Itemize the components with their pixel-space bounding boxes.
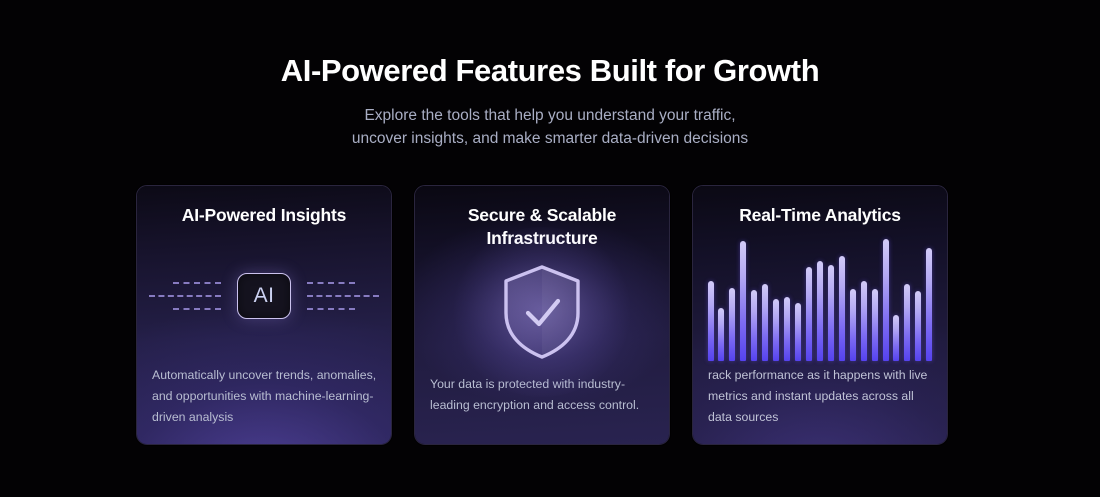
card-description-secure: Your data is protected with industry- le… — [415, 374, 669, 444]
subtitle-line-2: uncover insights, and make smarter data-… — [0, 128, 1100, 150]
dashed-line — [173, 308, 221, 310]
chart-bar — [893, 315, 899, 361]
chart-bar — [817, 261, 823, 361]
dashed-line — [173, 282, 221, 284]
card-title-secure: Secure & Scalable Infrastructure — [415, 186, 669, 250]
chart-bar — [729, 288, 735, 361]
description-line: rack performance as it happens with live — [708, 365, 932, 386]
dashed-line — [307, 295, 379, 297]
features-section: AI-Powered Features Built for Growth Exp… — [0, 0, 1100, 497]
description-line: leading encryption and access control. — [430, 395, 654, 416]
dashed-line — [149, 295, 221, 297]
chart-bar — [904, 284, 910, 361]
chart-bar — [850, 289, 856, 361]
bar-chart-icon — [708, 239, 933, 361]
section-header: AI-Powered Features Built for Growth Exp… — [0, 0, 1100, 150]
chart-bar — [795, 303, 801, 361]
card-title-line: Secure & Scalable — [468, 205, 616, 225]
chart-bar — [828, 265, 834, 361]
ai-chip-lines-right — [307, 282, 379, 310]
chart-bar — [883, 239, 889, 361]
chart-bar — [872, 289, 878, 361]
chart-bar — [784, 297, 790, 361]
page-title: AI-Powered Features Built for Growth — [0, 54, 1100, 88]
card-visual-analytics — [693, 227, 947, 364]
description-line: driven analysis — [152, 407, 376, 428]
card-title-insights: AI-Powered Insights — [137, 186, 391, 227]
chart-bar — [915, 291, 921, 360]
description-line: data sources — [708, 407, 932, 428]
card-title-analytics: Real-Time Analytics — [693, 186, 947, 227]
subtitle-line-1: Explore the tools that help you understa… — [0, 105, 1100, 127]
dashed-line — [307, 308, 355, 310]
card-description-analytics: rack performance as it happens with live… — [693, 365, 947, 444]
feature-card-real-time-analytics[interactable]: Real-Time Analytics rack performance as … — [692, 185, 948, 445]
chart-bar — [762, 284, 768, 361]
chart-bar — [861, 281, 867, 361]
card-visual-insights: AI — [137, 227, 391, 364]
section-subtitle: Explore the tools that help you understa… — [0, 105, 1100, 150]
chart-bar — [718, 308, 724, 361]
ai-chip-icon: AI — [237, 273, 291, 319]
chart-bar — [926, 248, 932, 361]
description-line: and opportunities with machine-learning- — [152, 386, 376, 407]
description-line: Automatically uncover trends, anomalies, — [152, 365, 376, 386]
chart-bar — [751, 290, 757, 361]
feature-card-row: AI-Powered Insights AI — [136, 185, 948, 445]
dashed-line — [307, 282, 355, 284]
description-line: metrics and instant updates across all — [708, 386, 932, 407]
chart-bar — [708, 281, 714, 361]
feature-card-ai-powered-insights[interactable]: AI-Powered Insights AI — [136, 185, 392, 445]
shield-check-icon — [500, 263, 584, 361]
ai-chip-label: AI — [254, 285, 275, 306]
chart-bar — [806, 267, 812, 361]
card-description-insights: Automatically uncover trends, anomalies,… — [137, 365, 391, 444]
ai-chip-lines-left — [149, 282, 221, 310]
chart-bar — [773, 299, 779, 361]
chart-bar — [839, 256, 845, 361]
card-title-line: Infrastructure — [487, 228, 598, 248]
chart-bar — [740, 241, 746, 360]
card-visual-secure — [415, 250, 669, 374]
feature-card-secure-scalable-infrastructure[interactable]: Secure & Scalable Infrastructure — [414, 185, 670, 445]
description-line: Your data is protected with industry- — [430, 374, 654, 395]
